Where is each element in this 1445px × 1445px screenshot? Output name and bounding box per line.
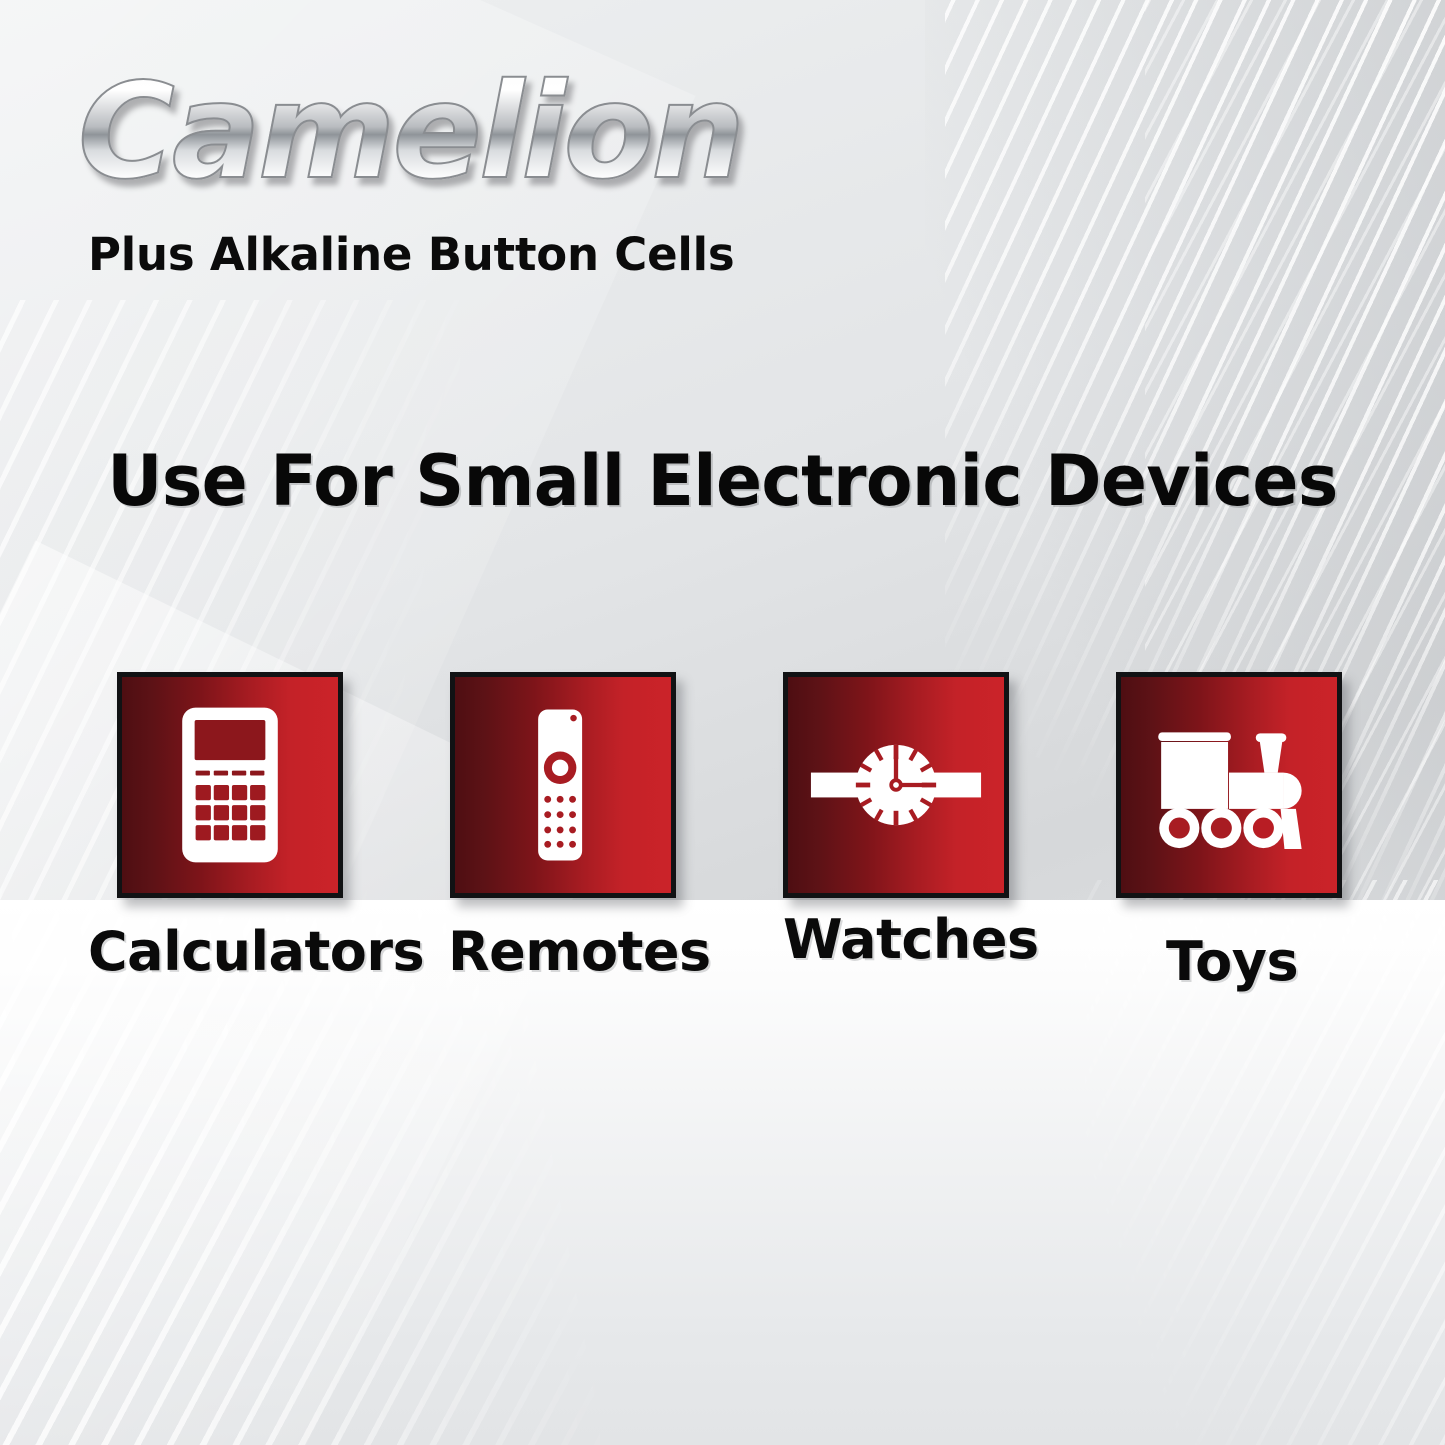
wristwatch-icon: [788, 677, 1004, 893]
brand-logo-text: Camelion: [78, 66, 742, 198]
usage-tile-toys[interactable]: [1116, 672, 1342, 898]
usage-icon-row: [0, 672, 1445, 907]
usage-label-watches: Watches: [783, 908, 1039, 971]
usage-label-calculators: Calculators: [88, 920, 424, 983]
product-feature-banner: Camelion Plus Alkaline Button Cells Use …: [0, 0, 1445, 1445]
toy-train-icon: [1121, 677, 1337, 893]
brand-tagline: Plus Alkaline Button Cells: [88, 228, 734, 281]
brand-logo: Camelion: [78, 66, 742, 198]
usage-tile-watches[interactable]: [783, 672, 1009, 898]
usage-label-remotes: Remotes: [448, 920, 711, 983]
calculator-icon: [122, 677, 338, 893]
usage-label-toys: Toys: [1166, 930, 1298, 993]
remote-control-icon: [455, 677, 671, 893]
usage-tile-remotes[interactable]: [450, 672, 676, 898]
usage-label-row: Calculators Remotes Watches Toys: [0, 920, 1445, 1010]
usage-tile-calculators[interactable]: [117, 672, 343, 898]
page-title: Use For Small Electronic Devices: [22, 440, 1424, 522]
